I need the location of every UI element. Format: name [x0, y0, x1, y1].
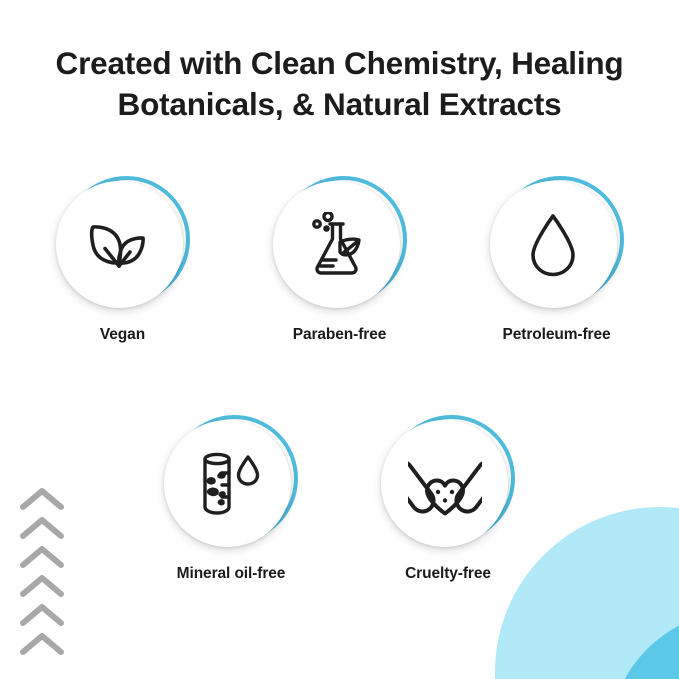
promo-graphic: Created with Clean Chemistry, Healing Bo…	[0, 0, 679, 679]
badge-vegan[interactable]: Vegan	[50, 176, 195, 344]
test-tube-droplet-icon	[195, 450, 261, 518]
badge-face	[381, 420, 508, 547]
bunny-icon	[408, 449, 482, 519]
flask-leaf-icon	[305, 212, 367, 278]
badge-disc	[273, 176, 407, 310]
badge-row-1: Vegan	[0, 176, 679, 344]
droplet-icon	[527, 212, 579, 278]
badge-face	[164, 420, 291, 547]
badge-label: Mineral oil-free	[177, 565, 286, 583]
corner-arc-inner	[609, 611, 679, 679]
badge-disc	[490, 176, 624, 310]
badge-paraben-free[interactable]: Paraben-free	[267, 176, 412, 344]
badge-petroleum-free[interactable]: Petroleum-free	[484, 176, 629, 344]
badge-mineral-oil-free[interactable]: Mineral oil-free	[159, 415, 304, 583]
badge-row-2: Mineral oil-free	[0, 415, 679, 583]
badge-face	[273, 181, 400, 308]
badge-label: Petroleum-free	[503, 326, 611, 344]
badge-disc	[164, 415, 298, 549]
page-title: Created with Clean Chemistry, Healing Bo…	[0, 43, 679, 125]
badge-cruelty-free[interactable]: Cruelty-free	[376, 415, 521, 583]
badge-label: Vegan	[100, 326, 145, 344]
leaves-icon	[88, 221, 150, 269]
badge-label: Cruelty-free	[405, 565, 491, 583]
badge-label: Paraben-free	[293, 326, 387, 344]
badge-disc	[381, 415, 515, 549]
chevron-up-icon	[19, 631, 65, 656]
badge-disc	[56, 176, 190, 310]
badge-face	[56, 181, 183, 308]
chevron-up-icon	[19, 602, 65, 627]
badge-face	[490, 181, 617, 308]
